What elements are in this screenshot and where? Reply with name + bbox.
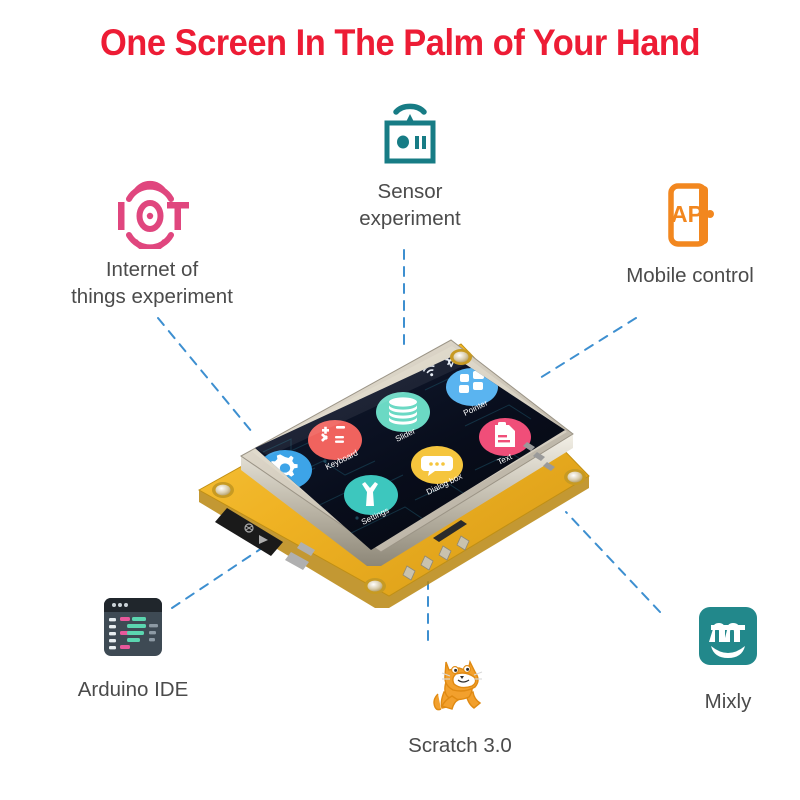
feature-scratch: Scratch 3.0	[340, 648, 580, 759]
mounting-hole	[450, 349, 472, 365]
mounting-hole	[212, 482, 234, 498]
feature-label: Mixly	[628, 688, 800, 715]
iot-signal-icon	[22, 178, 282, 250]
page-title: One Screen In The Palm of Your Hand	[28, 22, 772, 64]
app-icon-text: AP	[671, 201, 703, 227]
feature-label: Arduino IDE	[8, 676, 258, 703]
feature-sensor-experiment: Sensor experiment	[300, 100, 520, 232]
mixly-logo-icon	[628, 598, 800, 678]
feature-label: Sensor experiment	[300, 178, 520, 232]
mounting-hole	[364, 578, 386, 594]
feature-mobile-control: AP Mobile control	[580, 178, 800, 289]
infographic-stage: One Screen In The Palm of Your Hand	[0, 0, 800, 800]
mounting-hole	[564, 469, 586, 485]
mobile-app-icon: AP	[580, 178, 800, 252]
feature-label: Mobile control	[580, 262, 800, 289]
feature-mixly: Mixly	[628, 598, 800, 715]
scratch-cat-icon	[340, 648, 580, 722]
display-board-device: Slider Pointer	[175, 330, 635, 620]
sensor-module-icon	[300, 100, 520, 172]
feature-internet-of-things: Internet of things experiment	[22, 178, 282, 310]
feature-label: Scratch 3.0	[340, 732, 580, 759]
feature-label: Internet of things experiment	[22, 256, 282, 310]
